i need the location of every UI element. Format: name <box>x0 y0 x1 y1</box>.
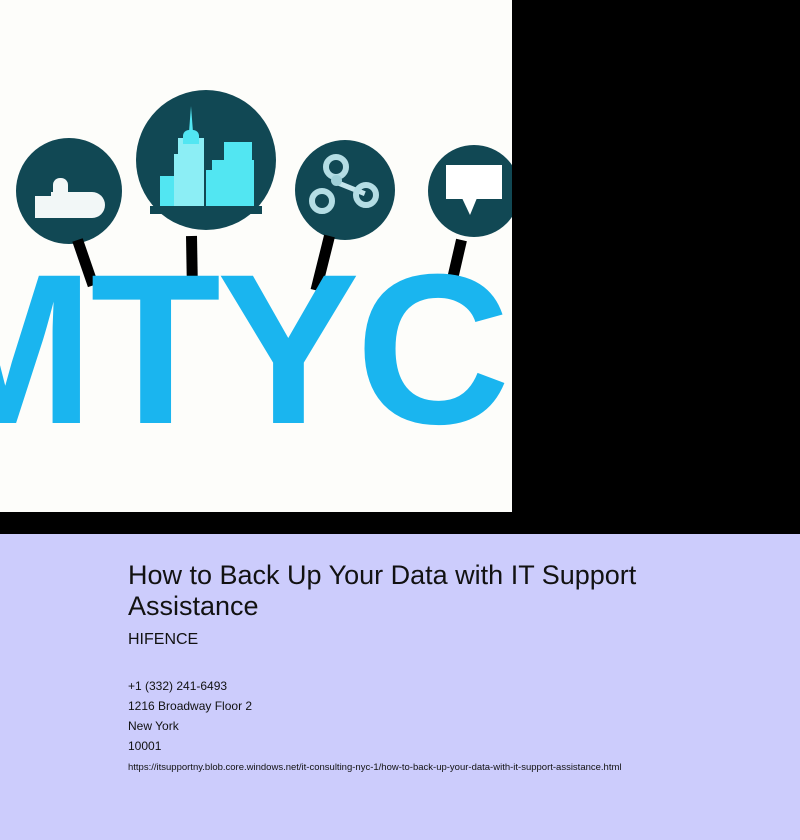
badge-network <box>295 140 395 240</box>
contact-city: New York <box>128 716 768 736</box>
wordmark-clip: MTYC <box>0 272 512 472</box>
page-title: How to Back Up Your Data with IT Support… <box>128 560 768 622</box>
contact-postal-code: 10001 <box>128 736 768 756</box>
empire-state-spire <box>189 106 193 132</box>
page-root: MTYC How to Back Up Your Data with IT Su… <box>0 0 800 840</box>
badge-thumbs-up <box>16 138 122 244</box>
hero-band: MTYC <box>0 0 800 534</box>
badge-speech-bubble <box>428 145 512 237</box>
thumbs-up-icon <box>35 178 105 218</box>
source-url[interactable]: https://itsupportny.blob.core.windows.ne… <box>128 761 768 775</box>
empire-state-body <box>178 138 204 214</box>
info-card: How to Back Up Your Data with IT Support… <box>0 534 800 840</box>
network-share-icon <box>309 154 381 226</box>
contact-phone[interactable]: +1 (332) 241-6493 <box>128 676 768 696</box>
hero-image: MTYC <box>0 0 512 512</box>
city-skyline-icon <box>150 112 262 224</box>
badge-city-skyline <box>136 90 276 230</box>
hero-wordmark: MTYC <box>0 272 506 450</box>
network-center-dot <box>331 175 342 186</box>
thumbs-up-thumb <box>53 178 68 198</box>
brand-name: HIFENCE <box>128 630 768 650</box>
speech-bubble-tail <box>462 198 477 215</box>
thumbs-up-cuff <box>35 196 51 218</box>
network-node-right <box>353 182 379 208</box>
building-right-b <box>224 142 252 214</box>
empire-state-crown <box>183 130 199 144</box>
speech-bubble-icon <box>446 165 502 213</box>
city-ground <box>150 206 262 214</box>
contact-street: 1216 Broadway Floor 2 <box>128 696 768 716</box>
info-content: How to Back Up Your Data with IT Support… <box>128 560 768 775</box>
network-node-bottom-left <box>309 188 335 214</box>
speech-bubble-body <box>446 165 502 199</box>
contact-block: +1 (332) 241-6493 1216 Broadway Floor 2 … <box>128 676 768 756</box>
